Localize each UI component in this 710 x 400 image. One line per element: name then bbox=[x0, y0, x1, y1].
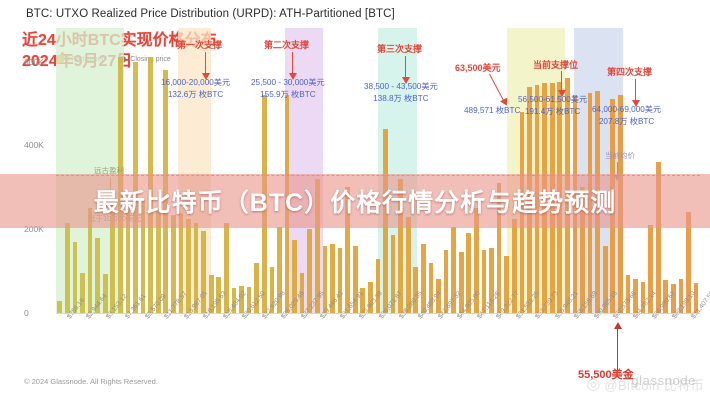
chart-bar bbox=[171, 215, 176, 313]
chart-bar bbox=[338, 248, 343, 313]
support-4-title: 第四次支撑 bbox=[607, 65, 652, 78]
support-3-amount: 138.8万 枚BTC bbox=[364, 93, 438, 105]
support-4-arrow-icon bbox=[635, 79, 636, 101]
support-3-detail: 38,500 - 43,500美元 138.8万 枚BTC bbox=[364, 81, 438, 105]
y-axis-tick-label: 400K bbox=[24, 140, 44, 150]
support-2-arrow-icon bbox=[292, 52, 293, 74]
current-average-title: 当前均价 bbox=[605, 150, 635, 161]
glassnode-watermark: glassnode bbox=[631, 373, 696, 388]
support-1-title: 第一次支撑 bbox=[177, 38, 222, 51]
support-1-detail: 16,000-20,000美元 132.6万 枚BTC bbox=[161, 77, 230, 101]
current-support-arrow-icon bbox=[561, 71, 562, 91]
promo-banner-text: 最新比特币（BTC）价格行情分析与趋势预测 bbox=[94, 183, 616, 219]
chart-bar bbox=[65, 223, 70, 313]
support-3-title: 第三次支撑 bbox=[377, 42, 422, 55]
bottom-price-arrow-icon bbox=[617, 328, 618, 370]
support-4-detail: 64,000-69,000美元 207.8万 枚BTC bbox=[592, 104, 661, 128]
support-2-title: 第二次支撑 bbox=[264, 38, 309, 51]
current-support-title: 当前支撑位 bbox=[533, 58, 578, 71]
support-4-price: 64,000-69,000美元 bbox=[592, 104, 661, 116]
chart-bar bbox=[376, 259, 381, 313]
price-63500-detail: 489,571 枚BTC bbox=[464, 105, 520, 117]
support-3-arrow-icon bbox=[405, 56, 406, 78]
support-3-price: 38,500 - 43,500美元 bbox=[364, 81, 438, 93]
current-support-amount: 191.4万 枚BTC bbox=[518, 106, 587, 118]
chart-bar bbox=[186, 219, 191, 313]
chart-bar bbox=[459, 252, 464, 313]
chart-screenshot: BTC: UTXO Realized Price Distribution (U… bbox=[0, 0, 710, 400]
x-axis-line bbox=[56, 313, 700, 314]
y-axis-tick-label: 0 bbox=[24, 308, 29, 318]
chart-bar bbox=[406, 217, 411, 313]
y-axis-tick-label: 600K bbox=[24, 57, 44, 67]
current-support-detail: 56,500-61,500美元 191.4万 枚BTC bbox=[518, 94, 587, 118]
plot-area bbox=[56, 28, 700, 313]
support-1-price: 16,000-20,000美元 bbox=[161, 77, 230, 89]
weibo-icon: ◎ bbox=[586, 374, 600, 394]
chart-bar bbox=[57, 301, 62, 313]
support-2-amount: 155.9万 枚BTC bbox=[251, 89, 325, 101]
current-support-price: 56,500-61,500美元 bbox=[518, 94, 587, 106]
chart-bar bbox=[421, 244, 426, 313]
support-1-amount: 132.6万 枚BTC bbox=[161, 89, 230, 101]
copyright-footer: © 2024 Glassnode. All Rights Reserved. bbox=[24, 377, 158, 386]
chart-bar bbox=[323, 246, 328, 313]
price-63500-amount: 489,571 枚BTC bbox=[464, 105, 520, 117]
promo-banner: 最新比特币（BTC）价格行情分析与趋势预测 bbox=[0, 174, 710, 228]
price-63500-title: 63,500美元 bbox=[455, 61, 501, 74]
chart-bar bbox=[224, 223, 229, 313]
chart-title: BTC: UTXO Realized Price Distribution (U… bbox=[26, 8, 395, 20]
support-2-price: 25,500 - 30,000美元 bbox=[251, 77, 325, 89]
support-4-amount: 207.8万 枚BTC bbox=[592, 116, 661, 128]
support-1-arrow-icon bbox=[205, 52, 206, 74]
support-2-detail: 25,500 - 30,000美元 155.9万 枚BTC bbox=[251, 77, 325, 101]
